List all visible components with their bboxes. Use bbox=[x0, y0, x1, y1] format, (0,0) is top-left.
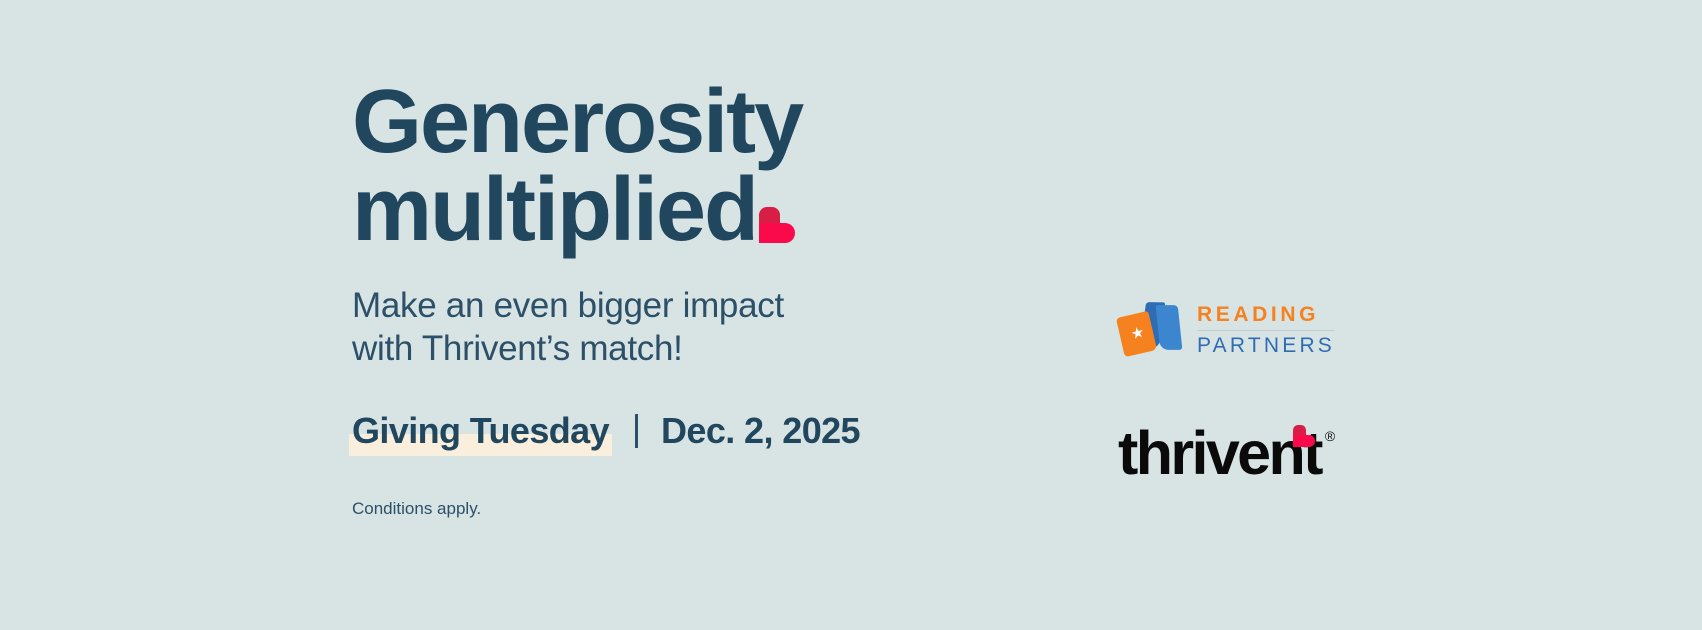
page-title: Generosity multiplied bbox=[352, 78, 972, 254]
book-cover-blue-right bbox=[1156, 305, 1183, 350]
promo-banner: Generosity multiplied Make an even bigge… bbox=[0, 0, 1702, 630]
reading-partners-wordmark: READING PARTNERS bbox=[1197, 302, 1335, 359]
reading-partners-logo: ★ READING PARTNERS bbox=[1118, 300, 1378, 360]
thrivent-wordmark-text: thrivent bbox=[1118, 419, 1321, 487]
headline-line-1: Generosity bbox=[352, 72, 802, 172]
event-name-highlighted: Giving Tuesday bbox=[352, 410, 609, 452]
wordmark-divider-rule bbox=[1197, 330, 1335, 331]
event-name: Giving Tuesday bbox=[352, 410, 609, 451]
subheadline-line-2: with Thrivent’s match! bbox=[352, 328, 972, 371]
divider-pipe bbox=[635, 414, 638, 448]
banner-copy-block: Generosity multiplied Make an even bigge… bbox=[352, 78, 972, 519]
subheadline-line-1: Make an even bigger impact bbox=[352, 285, 972, 328]
headline-line-2: multiplied bbox=[352, 160, 757, 260]
thrivent-wordmark: thrivent bbox=[1118, 423, 1321, 484]
heart-icon bbox=[759, 207, 795, 243]
event-dateline: Giving Tuesday Dec. 2, 2025 bbox=[352, 410, 972, 452]
heart-icon bbox=[1293, 425, 1315, 447]
fine-print: Conditions apply. bbox=[352, 499, 972, 519]
thrivent-logo: thrivent ® bbox=[1118, 423, 1378, 484]
reading-partners-word-partners: PARTNERS bbox=[1197, 334, 1335, 359]
event-date: Dec. 2, 2025 bbox=[661, 410, 860, 452]
registered-trademark-mark: ® bbox=[1325, 428, 1335, 444]
heart-icon-base bbox=[759, 223, 795, 243]
open-book-icon: ★ bbox=[1118, 300, 1184, 360]
banner-subheadline: Make an even bigger impact with Thrivent… bbox=[352, 285, 972, 370]
logo-stack: ★ READING PARTNERS thrivent ® bbox=[1118, 300, 1378, 484]
heart-icon-base bbox=[1293, 435, 1315, 447]
reading-partners-word-reading: READING bbox=[1197, 303, 1335, 328]
